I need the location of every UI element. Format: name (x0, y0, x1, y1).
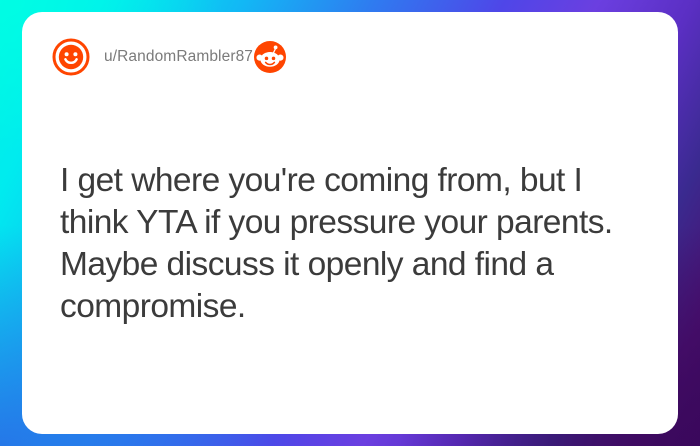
card-header: u/RandomRambler87 (52, 34, 652, 80)
smiley-face-avatar-icon (52, 38, 90, 76)
comment-body: I get where you're coming from, but I th… (60, 160, 652, 328)
screenshot-stage: u/RandomRambler87 (0, 0, 700, 446)
comment-line: compromise. (60, 286, 652, 328)
reddit-comment-card: u/RandomRambler87 (22, 12, 678, 434)
comment-line: think YTA if you pressure your parents. (60, 202, 652, 244)
reddit-brand-logo[interactable] (253, 40, 287, 74)
username-label: u/RandomRambler87 (104, 48, 253, 66)
reddit-snoo-icon (253, 40, 287, 74)
comment-line: Maybe discuss it openly and find a (60, 244, 652, 286)
comment-line: I get where you're coming from, but I (60, 160, 652, 202)
avatar[interactable] (52, 38, 90, 76)
